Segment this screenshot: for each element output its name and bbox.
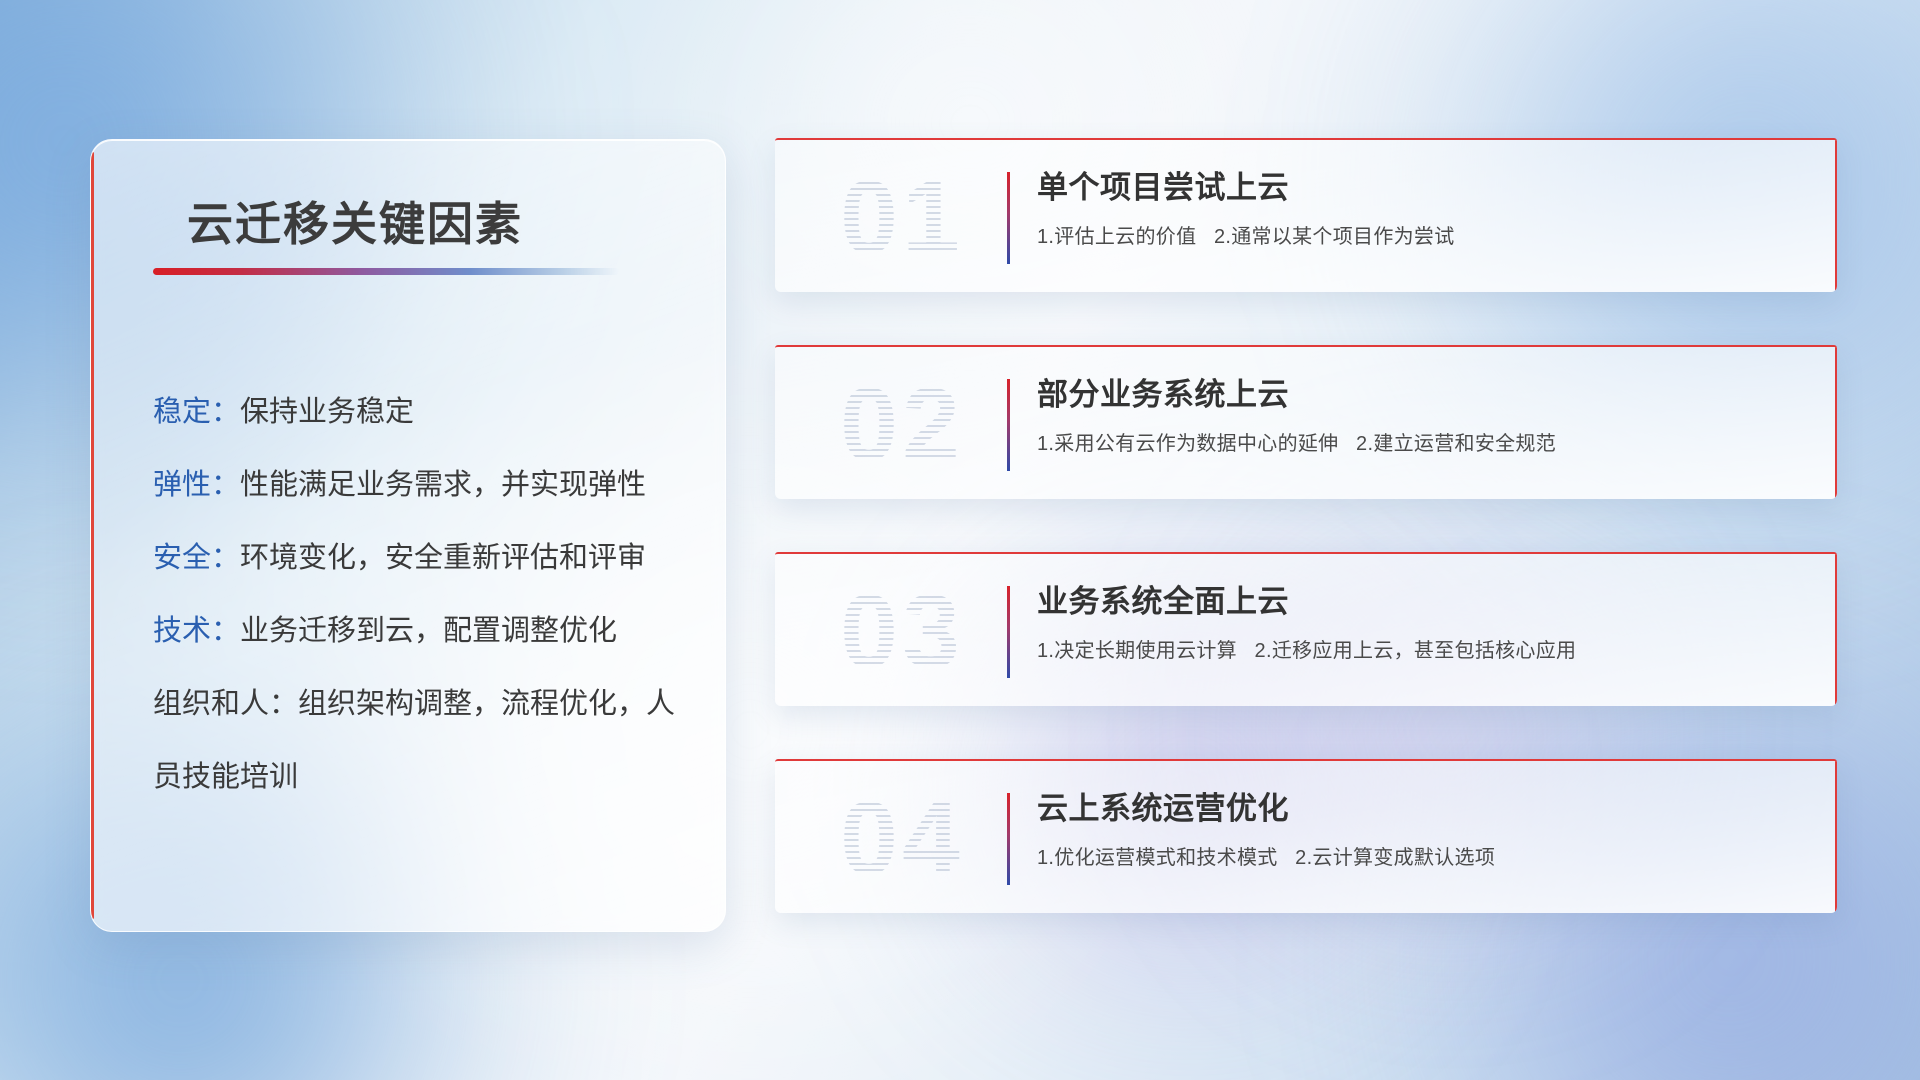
card-accent-bar-04 bbox=[1007, 793, 1010, 885]
card-description-04: 1.优化运营模式和技术模式 2.云计算变成默认选项 bbox=[1037, 844, 1807, 872]
card-text-block-04: 云上系统运营优化 1.优化运营模式和技术模式 2.云计算变成默认选项 bbox=[1037, 787, 1807, 872]
card-text-block-03: 业务系统全面上云 1.决定长期使用云计算 2.迁移应用上云，甚至包括核心应用 bbox=[1037, 580, 1807, 665]
stage-number-watermark-03: 03 bbox=[807, 572, 997, 692]
stage-number-watermark-01: 01 bbox=[807, 158, 997, 278]
card-accent-bar-03 bbox=[1007, 586, 1010, 678]
card-text-block-02: 部分业务系统上云 1.采用公有云作为数据中心的延伸 2.建立运营和安全规范 bbox=[1037, 373, 1807, 458]
card-title-03: 业务系统全面上云 bbox=[1037, 580, 1807, 624]
card-text-block-01: 单个项目尝试上云 1.评估上云的价值 2.通常以某个项目作为尝试 bbox=[1037, 166, 1807, 251]
key-factors-panel: 云迁移关键因素 稳定：保持业务稳定 弹性：性能满足业务需求，并实现弹性 安全：环… bbox=[90, 139, 726, 932]
factor-label-organization: 组织和人： bbox=[153, 688, 298, 720]
factor-item-stability: 稳定：保持业务稳定 bbox=[153, 376, 689, 449]
factor-list: 稳定：保持业务稳定 弹性：性能满足业务需求，并实现弹性 安全：环境变化，安全重新… bbox=[153, 376, 689, 814]
card-accent-bar-02 bbox=[1007, 379, 1010, 471]
factor-item-security: 安全：环境变化，安全重新评估和评审 bbox=[153, 522, 689, 595]
stage-card-03[interactable]: 03 业务系统全面上云 1.决定长期使用云计算 2.迁移应用上云，甚至包括核心应… bbox=[775, 552, 1837, 706]
stage-card-02[interactable]: 02 部分业务系统上云 1.采用公有云作为数据中心的延伸 2.建立运营和安全规范 bbox=[775, 345, 1837, 499]
card-description-03: 1.决定长期使用云计算 2.迁移应用上云，甚至包括核心应用 bbox=[1037, 637, 1807, 665]
factor-item-organization: 组织和人：组织架构调整，流程优化，人员技能培训 bbox=[153, 668, 689, 814]
stage-card-04[interactable]: 04 云上系统运营优化 1.优化运营模式和技术模式 2.云计算变成默认选项 bbox=[775, 759, 1837, 913]
card-description-02: 1.采用公有云作为数据中心的延伸 2.建立运营和安全规范 bbox=[1037, 430, 1807, 458]
factor-text-security: 环境变化，安全重新评估和评审 bbox=[240, 542, 646, 574]
factor-text-elasticity: 性能满足业务需求，并实现弹性 bbox=[240, 469, 646, 501]
stage-number-watermark-04: 04 bbox=[807, 779, 997, 899]
card-accent-bar-01 bbox=[1007, 172, 1010, 264]
factor-text-technology: 业务迁移到云，配置调整优化 bbox=[240, 615, 617, 647]
card-title-01: 单个项目尝试上云 bbox=[1037, 166, 1807, 210]
page-title: 云迁移关键因素 bbox=[187, 188, 523, 254]
title-underline-accent bbox=[153, 268, 619, 275]
migration-stage-cards: 01 单个项目尝试上云 1.评估上云的价值 2.通常以某个项目作为尝试 02 部… bbox=[775, 138, 1837, 913]
factor-text-stability: 保持业务稳定 bbox=[240, 396, 414, 428]
factor-label-stability: 稳定： bbox=[153, 396, 240, 428]
stage-card-01[interactable]: 01 单个项目尝试上云 1.评估上云的价值 2.通常以某个项目作为尝试 bbox=[775, 138, 1837, 292]
card-title-02: 部分业务系统上云 bbox=[1037, 373, 1807, 417]
stage-number-watermark-02: 02 bbox=[807, 365, 997, 485]
factor-label-security: 安全： bbox=[153, 542, 240, 574]
factor-item-technology: 技术：业务迁移到云，配置调整优化 bbox=[153, 595, 689, 668]
factor-label-technology: 技术： bbox=[153, 615, 240, 647]
card-title-04: 云上系统运营优化 bbox=[1037, 787, 1807, 831]
card-description-01: 1.评估上云的价值 2.通常以某个项目作为尝试 bbox=[1037, 223, 1807, 251]
factor-label-elasticity: 弹性： bbox=[153, 469, 240, 501]
slide-stage: 云迁移关键因素 稳定：保持业务稳定 弹性：性能满足业务需求，并实现弹性 安全：环… bbox=[0, 0, 1920, 1080]
factor-item-elasticity: 弹性：性能满足业务需求，并实现弹性 bbox=[153, 449, 689, 522]
